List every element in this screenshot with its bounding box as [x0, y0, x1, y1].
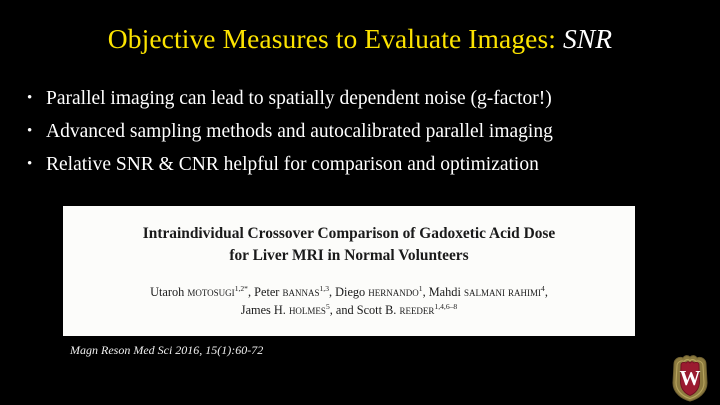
bullet-text: Parallel imaging can lead to spatially d…	[46, 86, 699, 112]
bullet-marker-icon: •	[27, 119, 46, 145]
slide-title-emphasis: SNR	[563, 23, 612, 54]
paper-author-line-2: James H. Holmes5, and Scott B. Reeder1,4…	[241, 303, 457, 317]
bullet-text: Relative SNR & CNR helpful for compariso…	[46, 152, 699, 178]
author-surname: Salmani Rahimi	[464, 285, 541, 299]
author-affiliation-superscript: 1,2*	[235, 284, 248, 293]
paper-author-list: Utaroh Motosugi1,2*, Peter Bannas1,3, Di…	[77, 283, 621, 319]
author-given-name: Peter	[254, 285, 282, 299]
bullet-item: • Advanced sampling methods and autocali…	[27, 119, 699, 145]
bullet-list: • Parallel imaging can lead to spatially…	[27, 86, 699, 185]
paper-title-line-1: Intraindividual Crossover Comparison of …	[143, 225, 555, 242]
author-surname: Bannas	[282, 285, 319, 299]
author-given-name: Scott B.	[357, 303, 400, 317]
author-surname: Holmes	[289, 303, 326, 317]
slide-title: Objective Measures to Evaluate Images: S…	[0, 22, 720, 56]
author-separator: , and	[330, 303, 357, 317]
bullet-marker-icon: •	[27, 152, 46, 178]
paper-title-line-2: for Liver MRI in Normal Volunteers	[229, 247, 468, 264]
svg-text:W: W	[680, 366, 701, 390]
slide-title-main: Objective Measures to Evaluate Images:	[108, 23, 556, 54]
author-affiliation-superscript: 1,3	[320, 284, 330, 293]
author-surname: Reeder	[399, 303, 434, 317]
author-surname: Hernando	[368, 285, 419, 299]
author-given-name: Utaroh	[150, 285, 187, 299]
bullet-marker-icon: •	[27, 86, 46, 112]
paper-citation-card: Intraindividual Crossover Comparison of …	[63, 206, 635, 336]
paper-title: Intraindividual Crossover Comparison of …	[89, 223, 609, 266]
paper-author-line-1: Utaroh Motosugi1,2*, Peter Bannas1,3, Di…	[150, 285, 548, 299]
bullet-item: • Relative SNR & CNR helpful for compari…	[27, 152, 699, 178]
bullet-item: • Parallel imaging can lead to spatially…	[27, 86, 699, 112]
author-given-name: James H.	[241, 303, 289, 317]
presentation-slide: Objective Measures to Evaluate Images: S…	[0, 0, 720, 405]
author-given-name: Mahdi	[429, 285, 464, 299]
author-surname: Motosugi	[187, 285, 234, 299]
author-affiliation-superscript: 1,4,6–8	[434, 302, 457, 311]
uw-madison-crest-icon: W	[668, 353, 712, 402]
author-given-name: Diego	[335, 285, 368, 299]
author-separator: ,	[545, 285, 548, 299]
journal-citation: Magn Reson Med Sci 2016, 15(1):60-72	[70, 343, 263, 358]
bullet-text: Advanced sampling methods and autocalibr…	[46, 119, 699, 145]
